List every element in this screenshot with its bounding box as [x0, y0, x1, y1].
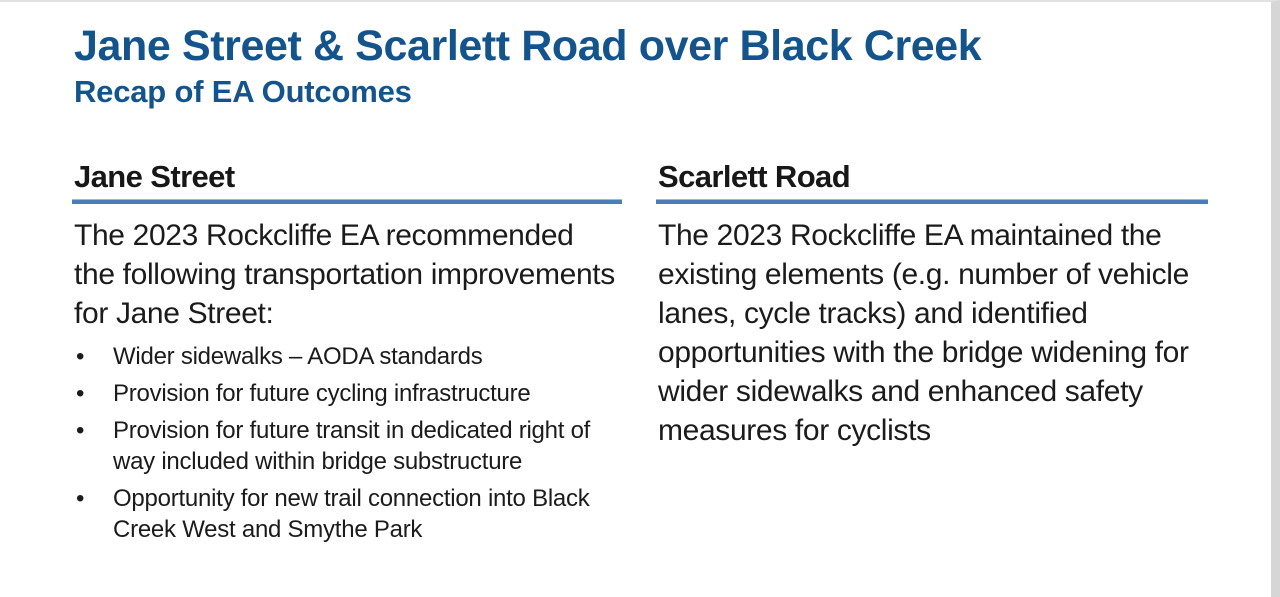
page-title: Jane Street & Scarlett Road over Black C… [74, 24, 1194, 69]
list-item: • Wider sidewalks – AODA standards [72, 342, 622, 373]
column-header-scarlett-road: Scarlett Road [656, 160, 1208, 195]
page-subtitle: Recap of EA Outcomes [74, 75, 1194, 109]
column-scarlett-road: Scarlett Road The 2023 Rockcliffe EA mai… [656, 160, 1208, 450]
column-body-jane-street: The 2023 Rockcliffe EA recommended the f… [72, 216, 622, 333]
list-item-label: Opportunity for new trail connection int… [113, 485, 590, 543]
two-column-content: Jane Street The 2023 Rockcliffe EA recom… [0, 160, 1280, 590]
bullet-icon: • [76, 342, 84, 373]
column-header-jane-street: Jane Street [72, 160, 622, 195]
column-rule-jane-street [72, 199, 622, 204]
bullet-icon: • [76, 416, 84, 447]
bullet-list-jane-street: • Wider sidewalks – AODA standards • Pro… [72, 342, 622, 545]
list-item-label: Provision for future cycling infrastruct… [113, 380, 530, 407]
column-rule-scarlett-road [656, 199, 1208, 204]
list-item: • Provision for future transit in dedica… [72, 416, 622, 478]
title-block: Jane Street & Scarlett Road over Black C… [74, 24, 1194, 109]
slide-canvas: Jane Street & Scarlett Road over Black C… [0, 0, 1280, 597]
list-item-label: Wider sidewalks – AODA standards [113, 343, 483, 370]
list-item: • Provision for future cycling infrastru… [72, 379, 622, 410]
column-jane-street: Jane Street The 2023 Rockcliffe EA recom… [72, 160, 622, 545]
bullet-icon: • [76, 379, 84, 410]
column-body-scarlett-road: The 2023 Rockcliffe EA maintained the ex… [656, 216, 1208, 450]
bullet-icon: • [76, 484, 84, 515]
list-item: • Opportunity for new trail connection i… [72, 484, 622, 546]
list-item-label: Provision for future transit in dedicate… [113, 417, 590, 475]
